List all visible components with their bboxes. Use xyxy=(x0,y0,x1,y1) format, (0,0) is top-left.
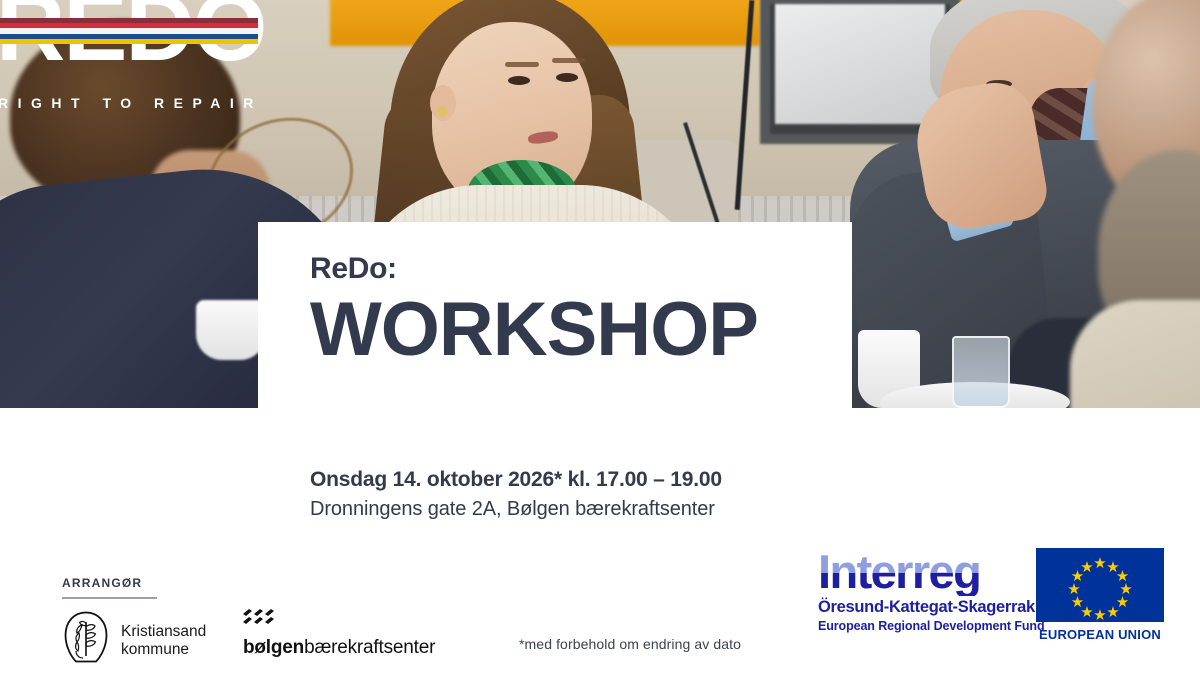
header-photo: REDO RIGHT TO REPAIR ReDo: WORKSHOP xyxy=(0,0,1200,408)
redo-tagline: RIGHT TO REPAIR xyxy=(0,95,263,111)
info-area: Onsdag 14. oktober 2026* kl. 17.00 – 19.… xyxy=(0,408,1200,675)
woman-eye-left xyxy=(508,76,530,85)
interreg-wordmark: Interreg Interreg xyxy=(818,548,1023,596)
bolgen-label: bølgenbærekraftsenter xyxy=(243,637,435,659)
coffee-cup-left xyxy=(196,300,266,360)
bolgen-name: bølgen xyxy=(243,637,304,658)
kristiansand-kommune-logo: Kristiansand kommune xyxy=(62,611,206,670)
event-location: Dronningens gate 2A, Bølgen bærekraftsen… xyxy=(310,496,722,523)
organiser-heading: ARRANGØR xyxy=(62,576,157,599)
wave-icon xyxy=(243,608,435,633)
kommune-line-1: Kristiansand xyxy=(121,623,206,640)
bolgen-descriptor: bærekraftsenter xyxy=(304,637,435,658)
redo-stripes xyxy=(0,18,258,44)
woman-brow-left xyxy=(505,62,539,67)
bolgen-logo: bølgenbærekraftsenter xyxy=(243,608,435,659)
european-union-logo: ★ ★ ★ ★ ★ ★ ★ ★ ★ ★ ★ ★ EUROPEAN UNION xyxy=(1036,548,1164,642)
title-kicker: ReDo: xyxy=(310,252,852,285)
organiser-divider xyxy=(62,597,157,599)
eu-label: EUROPEAN UNION xyxy=(1036,627,1164,642)
woman-brow-right xyxy=(552,58,586,63)
water-glass xyxy=(952,336,1010,408)
wall-frame-inner xyxy=(775,4,945,124)
eu-star: ★ xyxy=(1106,605,1121,620)
interreg-programme: Öresund-Kattegat-Skagerrak xyxy=(818,598,1044,617)
page-title: WORKSHOP xyxy=(310,291,852,369)
event-footnote: *med forbehold om endring av dato xyxy=(519,636,741,652)
kristiansand-kommune-label: Kristiansand kommune xyxy=(121,623,206,659)
eu-flag-icon: ★ ★ ★ ★ ★ ★ ★ ★ ★ ★ ★ ★ xyxy=(1036,548,1164,622)
poster-canvas: REDO RIGHT TO REPAIR ReDo: WORKSHOP Onsd… xyxy=(0,0,1200,675)
redo-logo: REDO RIGHT TO REPAIR xyxy=(0,0,296,132)
woman-eye-right xyxy=(556,73,578,82)
earring-icon xyxy=(437,106,448,117)
stripe-yellow xyxy=(0,39,258,44)
eu-star: ★ xyxy=(1080,560,1095,575)
interreg-fund: European Regional Development Fund xyxy=(818,619,1044,633)
title-card: ReDo: WORKSHOP xyxy=(258,222,852,408)
eu-star: ★ xyxy=(1093,608,1108,623)
event-date: Onsdag 14. oktober 2026* kl. 17.00 – 19.… xyxy=(310,466,722,494)
organiser-label: ARRANGØR xyxy=(62,576,157,590)
kommune-line-2: kommune xyxy=(121,641,189,658)
interreg-logo: Interreg Interreg Öresund-Kattegat-Skage… xyxy=(818,548,1044,633)
kristiansand-coat-of-arms-icon xyxy=(62,611,110,670)
event-details: Onsdag 14. oktober 2026* kl. 17.00 – 19.… xyxy=(310,466,722,523)
